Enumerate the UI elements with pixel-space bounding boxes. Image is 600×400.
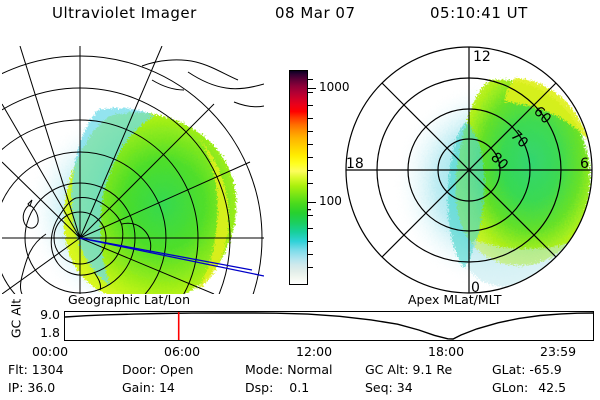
colorbar-tick-minor [308, 118, 313, 119]
colorbar-label-100: 100 [319, 195, 342, 207]
status-gain-label: Gain: [122, 380, 155, 395]
time-axis: 00:00 06:00 12:00 18:00 23:59 [0, 344, 600, 360]
colorbar-tick-minor [308, 183, 313, 184]
status-ip-label: IP: [8, 380, 23, 395]
status-glat: GLat: -65.9 [492, 362, 562, 377]
colorbar-gradient[interactable] [289, 70, 308, 285]
status-door-label: Door: [122, 362, 156, 377]
status-flight-value: 1304 [32, 362, 64, 377]
colorbar-tick-minor [308, 105, 313, 106]
status-door-value: Open [160, 362, 193, 377]
orbit-plot-box[interactable] [64, 311, 594, 341]
status-flight-label: Flt: [8, 362, 28, 377]
colorbar-tick-minor [308, 267, 313, 268]
header-bar: Ultraviolet Imager 08 Mar 07 05:10:41 UT [0, 4, 600, 30]
status-glon-value: 42.5 [538, 380, 566, 395]
mlt-label-12: 12 [473, 49, 491, 65]
mlt-data-layer [394, 78, 598, 288]
colorbar-tick-minor [308, 241, 313, 242]
colorbar-tick-minor [308, 79, 313, 80]
colorbar-tick-minor [308, 254, 313, 255]
colorbar-tick-minor [308, 131, 313, 132]
status-gcalt-label: GC Alt: [365, 362, 409, 377]
status-dsp-value: 0.1 [289, 380, 309, 395]
status-glon: GLon: 42.5 [492, 380, 566, 395]
status-seq: Seq: 34 [365, 380, 413, 395]
mlt-label-6: 6 [580, 156, 589, 172]
status-dsp: Dsp: 0.1 [245, 380, 309, 395]
status-seq-value: 34 [397, 380, 413, 395]
colorbar-group: photon cm-2s-1 1000 100 [266, 60, 346, 300]
mlt-label-18: 18 [346, 156, 364, 172]
status-gain-value: 14 [159, 380, 175, 395]
colorbar-tick-minor [308, 215, 313, 216]
orbit-ytick-low: 1.8 [24, 325, 60, 340]
time-tick-2: 12:00 [296, 344, 332, 359]
time-tick-0: 00:00 [32, 344, 68, 359]
status-dsp-label: Dsp: [245, 380, 273, 395]
orbit-altitude-curve [65, 313, 593, 339]
colorbar-tick-major-1000 [308, 88, 316, 89]
colorbar-tick-minor [308, 144, 313, 145]
time-tick-1: 06:00 [164, 344, 200, 359]
mlt-spokes [346, 47, 592, 293]
observation-date: 08 Mar 07 [275, 4, 356, 22]
observation-time: 05:10:41 UT [430, 4, 528, 22]
status-mode: Mode: Normal [245, 362, 333, 377]
colorbar-tick-minor [308, 92, 313, 93]
orbit-ytick-high: 9.0 [24, 307, 60, 322]
status-gcalt: GC Alt: 9.1 Re [365, 362, 452, 377]
geographic-polar-panel[interactable] [2, 46, 264, 294]
orbit-plot-svg [65, 312, 593, 340]
orbit-axis-label: GC Alt [9, 291, 24, 347]
status-mode-label: Mode: [245, 362, 283, 377]
apex-mlat-mlt-panel[interactable]: 12 18 6 0 60 70 80 [340, 44, 598, 296]
status-glon-label: GLon: [492, 380, 528, 395]
status-seq-label: Seq: [365, 380, 393, 395]
status-mode-value: Normal [287, 362, 332, 377]
colorbar-tick-minor [308, 170, 313, 171]
status-glat-value: -65.9 [529, 362, 561, 377]
status-block: Flt: 1304 Door: Open Mode: Normal GC Alt… [0, 362, 600, 400]
orbit-altitude-strip[interactable]: GC Alt 9.0 1.8 [0, 305, 600, 343]
status-gain: Gain: 14 [122, 380, 175, 395]
geographic-plot-svg [2, 46, 264, 294]
colorbar-tick-minor [308, 228, 313, 229]
status-gcalt-value: 9.1 Re [413, 362, 453, 377]
status-door: Door: Open [122, 362, 193, 377]
time-tick-4: 23:59 [540, 344, 576, 359]
status-ip-value: 36.0 [27, 380, 55, 395]
colorbar-tick-major-100 [308, 202, 316, 203]
mlt-dial-svg: 12 18 6 0 60 70 80 [340, 44, 598, 296]
status-glat-label: GLat: [492, 362, 525, 377]
status-flight: Flt: 1304 [8, 362, 64, 377]
instrument-title: Ultraviolet Imager [52, 4, 197, 22]
status-ip: IP: 36.0 [8, 380, 55, 395]
time-tick-3: 18:00 [428, 344, 464, 359]
colorbar-tick-minor [308, 157, 313, 158]
